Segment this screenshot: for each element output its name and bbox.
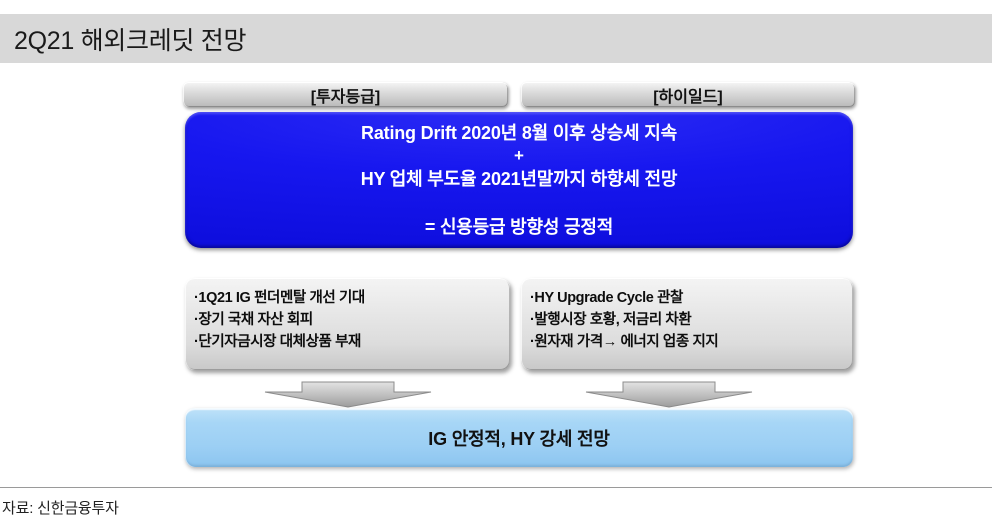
result-box-text: IG 안정적, HY 강세 전망 [428,425,609,451]
column-header-high-yield: [하이일드] [521,82,855,107]
column-header-investment-grade: [투자등급] [183,82,508,107]
footer-divider [0,487,992,488]
list-item: ·발행시장 호황, 저금리 차환 [530,309,853,331]
thesis-line-3: HY 업체 부도율 2021년말까지 하향세 전망 [361,167,678,191]
page-title: 2Q21 해외크레딧 전망 [14,21,246,57]
list-item: ·원자재 가격→ 에너지 업종 지지 [530,331,853,353]
bullet-box-high-yield: ·HY Upgrade Cycle 관찰 ·발행시장 호황, 저금리 차환 ·원… [521,278,853,370]
thesis-line-1: Rating Drift 2020년 8월 이후 상승세 지속 [361,121,677,145]
slide-title-bar: 2Q21 해외크레딧 전망 [0,14,992,63]
down-arrow-icon-hy [585,381,753,408]
column-header-high-yield-label: [하이일드] [653,83,723,107]
thesis-conclusion: = 신용등급 방향성 긍정적 [425,213,613,239]
source-note: 자료: 신한금융투자 [2,497,119,518]
thesis-line-2-plus: + [514,145,524,167]
list-item: ·1Q21 IG 펀더멘탈 개선 기대 [194,287,510,309]
column-header-investment-grade-label: [투자등급] [311,83,381,107]
list-item: ·HY Upgrade Cycle 관찰 [530,287,853,309]
thesis-box: Rating Drift 2020년 8월 이후 상승세 지속 + HY 업체 … [185,112,853,248]
result-box: IG 안정적, HY 강세 전망 [185,408,853,467]
list-item: ·단기자금시장 대체상품 부재 [194,331,510,353]
list-item: ·장기 국채 자산 회피 [194,309,510,331]
down-arrow-icon-ig [264,381,432,408]
bullet-box-investment-grade: ·1Q21 IG 펀더멘탈 개선 기대 ·장기 국채 자산 회피 ·단기자금시장… [185,278,510,370]
